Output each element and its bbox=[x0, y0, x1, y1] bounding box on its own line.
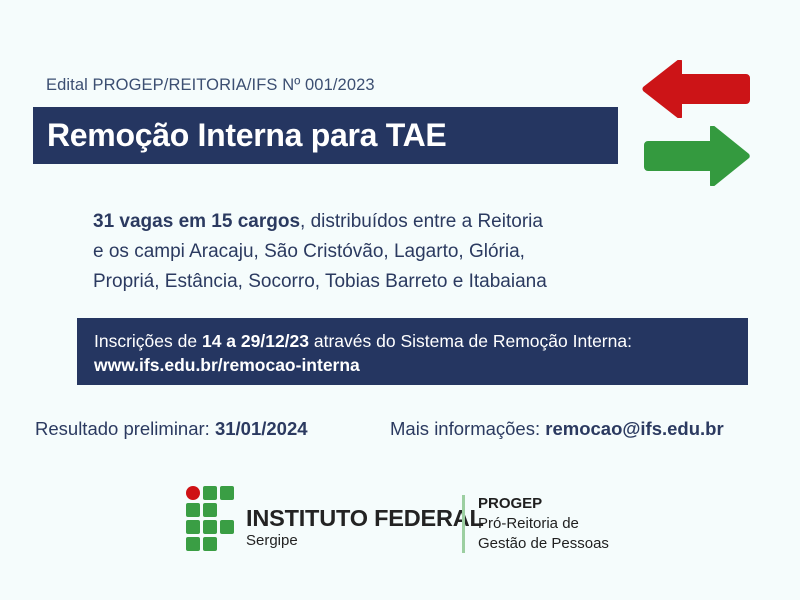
arrow-left-red-icon bbox=[642, 60, 750, 118]
arrows-decoration bbox=[642, 58, 800, 190]
vacancies-description: 31 vagas em 15 cargos, distribuídos entr… bbox=[93, 207, 693, 297]
logo-cell bbox=[186, 503, 200, 517]
logo-row-1 bbox=[186, 486, 234, 500]
logo-cell bbox=[220, 520, 234, 534]
edital-reference-label: Edital PROGEP/REITORIA/IFS Nº 001/2023 bbox=[46, 76, 375, 95]
logo-cell bbox=[186, 537, 200, 551]
inscription-info-box: Inscrições de 14 a 29/12/23 através do S… bbox=[77, 318, 748, 385]
inscription-suffix: através do Sistema de Remoção Interna: bbox=[309, 331, 632, 351]
preliminary-result-line: Resultado preliminar: 31/01/2024 bbox=[35, 418, 308, 440]
progep-subtitle-line-2: Gestão de Pessoas bbox=[478, 534, 609, 554]
more-info-line: Mais informações: remocao@ifs.edu.br bbox=[390, 418, 724, 440]
poster-title-bar: Remoção Interna para TAE bbox=[33, 107, 618, 164]
poster-canvas: Edital PROGEP/REITORIA/IFS Nº 001/2023 R… bbox=[0, 0, 800, 600]
inscription-prefix: Inscrições de bbox=[94, 331, 202, 351]
inscription-url[interactable]: www.ifs.edu.br/remocao-interna bbox=[94, 353, 748, 377]
footer-divider bbox=[462, 495, 465, 553]
logo-cell bbox=[203, 503, 217, 517]
footer-logos: INSTITUTO FEDERAL Sergipe PROGEP Pró-Rei… bbox=[186, 483, 616, 563]
instituto-federal-wordmark: INSTITUTO FEDERAL Sergipe bbox=[246, 505, 484, 551]
logo-row-2 bbox=[186, 503, 217, 517]
logo-row-3 bbox=[186, 520, 234, 534]
progep-title: PROGEP bbox=[478, 494, 609, 514]
progep-subtitle-line-1: Pró-Reitoria de bbox=[478, 514, 609, 534]
description-line-1: 31 vagas em 15 cargos, distribuídos entr… bbox=[93, 207, 693, 237]
institute-name: INSTITUTO FEDERAL bbox=[246, 505, 484, 531]
inscription-period-line: Inscrições de 14 a 29/12/23 através do S… bbox=[94, 329, 748, 353]
description-line-3: Propriá, Estância, Socorro, Tobias Barre… bbox=[93, 267, 693, 297]
logo-cell bbox=[203, 486, 217, 500]
more-info-label: Mais informações: bbox=[390, 418, 545, 439]
logo-row-4 bbox=[186, 537, 217, 551]
logo-red-dot bbox=[186, 486, 200, 500]
progep-block: PROGEP Pró-Reitoria de Gestão de Pessoas bbox=[478, 494, 609, 554]
logo-cell bbox=[203, 537, 217, 551]
arrow-right-green-icon bbox=[644, 126, 750, 186]
description-line-1-rest: , distribuídos entre a Reitoria bbox=[300, 211, 543, 232]
instituto-federal-logo-mark-icon bbox=[186, 486, 238, 554]
description-line-2: e os campi Aracaju, São Cristóvão, Lagar… bbox=[93, 237, 693, 267]
logo-cell bbox=[203, 520, 217, 534]
vacancies-highlight: 31 vagas em 15 cargos bbox=[93, 211, 300, 232]
preliminary-result-date: 31/01/2024 bbox=[215, 418, 308, 439]
logo-cell bbox=[186, 520, 200, 534]
preliminary-result-label: Resultado preliminar: bbox=[35, 418, 215, 439]
page-title: Remoção Interna para TAE bbox=[33, 117, 446, 154]
institute-state: Sergipe bbox=[246, 531, 484, 551]
logo-cell bbox=[220, 486, 234, 500]
contact-email[interactable]: remocao@ifs.edu.br bbox=[545, 418, 723, 439]
inscription-dates: 14 a 29/12/23 bbox=[202, 331, 309, 351]
